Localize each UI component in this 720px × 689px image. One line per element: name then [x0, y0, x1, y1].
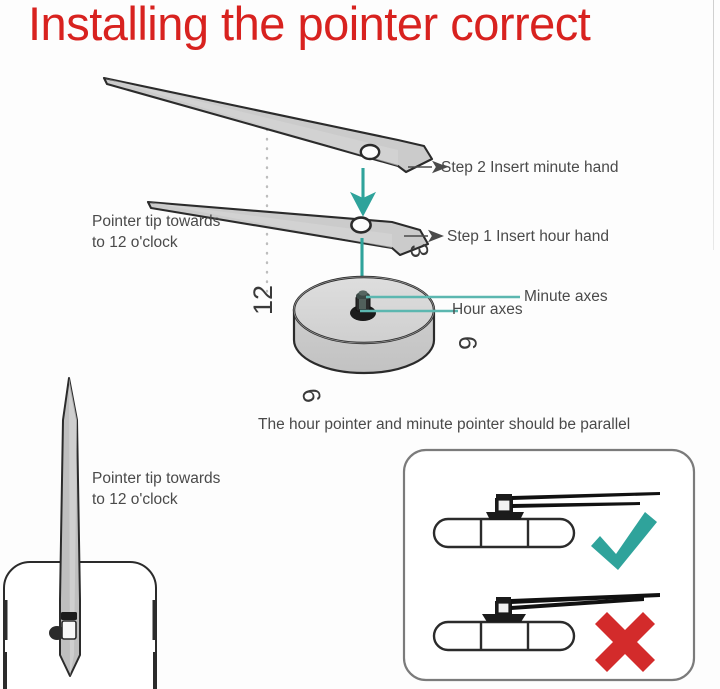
instruction-illustration: 12 3 6 9 — [0, 0, 720, 689]
parallel-note-label: The hour pointer and minute pointer shou… — [258, 414, 630, 435]
svg-text:12: 12 — [248, 285, 278, 315]
clock-number-6: 6 — [453, 336, 481, 350]
hour-axes-label: Hour axes — [452, 299, 523, 320]
clock-number-12: 12 — [248, 285, 278, 315]
bottom-left-illustration — [4, 378, 156, 689]
svg-text:9: 9 — [297, 386, 327, 405]
pointer-tip-label-bottom: Pointer tip towards to 12 o'clock — [92, 468, 220, 510]
clock-number-9: 9 — [297, 386, 327, 405]
step-2-label: Step 2 Insert minute hand — [441, 157, 619, 178]
step-1-label: Step 1 Insert hour hand — [447, 226, 609, 247]
pointer-tip-label-top: Pointer tip towards to 12 o'clock — [92, 211, 220, 253]
minute-axes-label: Minute axes — [524, 286, 608, 307]
svg-text:6: 6 — [453, 336, 481, 350]
diagram-canvas: Installing the pointer correct — [0, 0, 720, 689]
